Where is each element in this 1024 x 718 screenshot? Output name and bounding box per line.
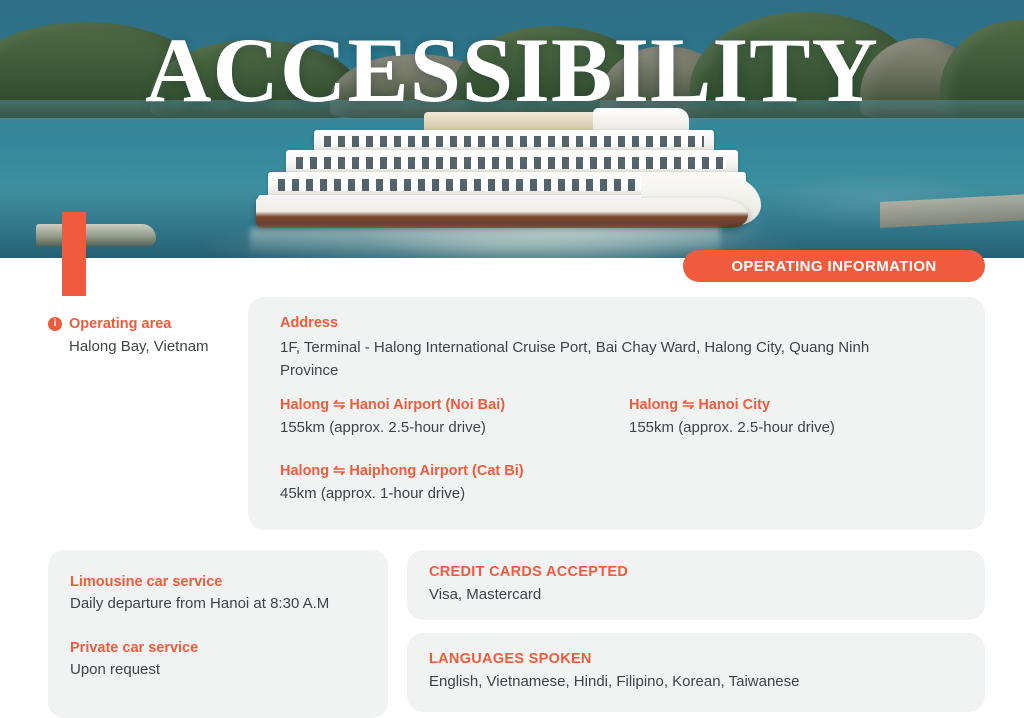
ship-reflection bbox=[250, 228, 720, 256]
address-label: Address bbox=[280, 315, 338, 331]
route-value: 155km (approx. 2.5-hour drive) bbox=[280, 419, 610, 436]
route-item: Halong ⇋ Hanoi Airport (Noi Bai) 155km (… bbox=[280, 397, 610, 436]
languages-label: LANGUAGES SPOKEN bbox=[429, 651, 592, 667]
operating-area-value: Halong Bay, Vietnam bbox=[69, 338, 238, 355]
limousine-service-label: Limousine car service bbox=[70, 574, 222, 590]
cruise-ship bbox=[228, 112, 773, 238]
address-value: 1F, Terminal - Halong International Crui… bbox=[280, 336, 920, 382]
route-item: Halong ⇋ Hanoi City 155km (approx. 2.5-h… bbox=[629, 397, 959, 436]
car-services-card: Limousine car service Daily departure fr… bbox=[48, 550, 388, 718]
operating-area-label: Operating area bbox=[69, 316, 171, 332]
route-label: Halong ⇋ Hanoi City bbox=[629, 397, 959, 413]
route-label: Halong ⇋ Hanoi Airport (Noi Bai) bbox=[280, 397, 610, 413]
languages-card: LANGUAGES SPOKEN English, Vietnamese, Hi… bbox=[407, 633, 985, 712]
route-item: Halong ⇋ Haiphong Airport (Cat Bi) 45km … bbox=[280, 463, 640, 502]
route-value: 45km (approx. 1-hour drive) bbox=[280, 485, 640, 502]
page-title: ACCESSIBILITY bbox=[0, 22, 1024, 118]
small-boat bbox=[36, 224, 156, 246]
info-circle-icon: i bbox=[48, 317, 62, 331]
operating-information-badge: OPERATING INFORMATION bbox=[683, 250, 985, 282]
credit-cards-card: CREDIT CARDS ACCEPTED Visa, Mastercard bbox=[407, 550, 985, 620]
route-value: 155km (approx. 2.5-hour drive) bbox=[629, 419, 959, 436]
private-service-label: Private car service bbox=[70, 640, 198, 656]
address-and-routes-card: Address 1F, Terminal - Halong Internatio… bbox=[248, 297, 985, 530]
operating-area-heading: i Operating area bbox=[48, 316, 238, 332]
orange-accent-bar bbox=[62, 212, 86, 296]
limousine-service-value: Daily departure from Hanoi at 8:30 A.M bbox=[70, 595, 329, 612]
credit-cards-label: CREDIT CARDS ACCEPTED bbox=[429, 564, 628, 580]
languages-value: English, Vietnamese, Hindi, Filipino, Ko… bbox=[429, 673, 800, 690]
hero-banner: ACCESSIBILITY bbox=[0, 0, 1024, 258]
private-service-value: Upon request bbox=[70, 661, 160, 678]
operating-information-badge-label: OPERATING INFORMATION bbox=[731, 258, 936, 275]
operating-area-block: i Operating area Halong Bay, Vietnam bbox=[48, 316, 238, 355]
credit-cards-value: Visa, Mastercard bbox=[429, 586, 541, 603]
route-label: Halong ⇋ Haiphong Airport (Cat Bi) bbox=[280, 463, 640, 479]
